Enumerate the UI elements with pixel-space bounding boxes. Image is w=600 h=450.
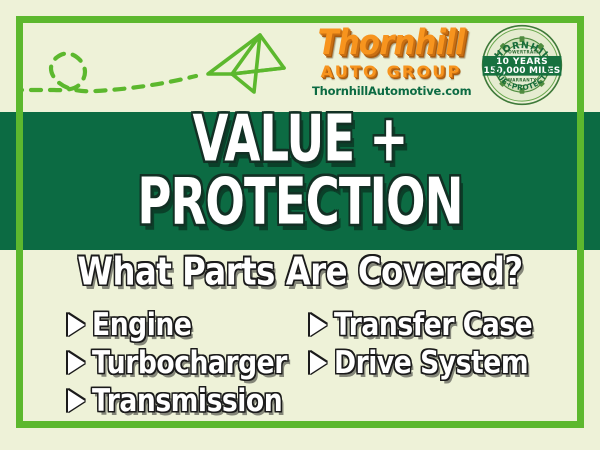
thornhill-logo[interactable]: Thornhill AUTO GROUP ThornhillAutomotive…	[312, 26, 470, 102]
list-item: Transmission	[68, 382, 297, 420]
headline: VALUE + PROTECTION	[0, 108, 600, 220]
part-label: Transfer Case	[334, 310, 532, 341]
subheading: What Parts Are Covered?	[0, 253, 600, 287]
triangle-bullet-icon	[68, 390, 85, 412]
list-item: Transfer Case	[310, 306, 543, 344]
flight-path-decoration	[18, 18, 318, 112]
list-item: Drive System	[310, 344, 543, 382]
warranty-seal-badge: THORNHILL POWERTRAIN 10 YEARS 150,000 MI…	[481, 24, 563, 106]
triangle-bullet-icon	[310, 352, 327, 374]
part-label: Transmission	[92, 386, 282, 417]
dashed-path-icon	[18, 53, 196, 91]
covered-parts-left-column: Engine Turbocharger Transmission	[68, 306, 297, 420]
part-label: Drive System	[334, 348, 528, 379]
covered-parts-lists: Engine Turbocharger Transmission Transfe…	[0, 306, 600, 424]
seal-powertrain-text: POWERTRAIN	[505, 50, 539, 55]
subheading-text: What Parts Are Covered?	[15, 253, 585, 291]
logo-brand-name: Thornhill	[312, 26, 470, 61]
headline-line-2: PROTECTION	[21, 171, 579, 234]
triangle-bullet-icon	[68, 352, 85, 374]
covered-parts-right-column: Transfer Case Drive System	[310, 306, 543, 382]
triangle-bullet-icon	[68, 314, 85, 336]
logo-website-url[interactable]: ThornhillAutomotive.com	[312, 86, 470, 98]
paper-plane-arrow-icon	[208, 35, 284, 92]
logo-subtitle: AUTO GROUP	[312, 64, 470, 80]
headline-line-1: VALUE +	[21, 108, 579, 171]
list-item: Engine	[68, 306, 297, 344]
triangle-bullet-icon	[310, 314, 327, 336]
part-label: Turbocharger	[92, 348, 287, 379]
advertisement-banner: Thornhill AUTO GROUP ThornhillAutomotive…	[0, 0, 600, 450]
list-item: Turbocharger	[68, 344, 297, 382]
part-label: Engine	[92, 310, 191, 341]
